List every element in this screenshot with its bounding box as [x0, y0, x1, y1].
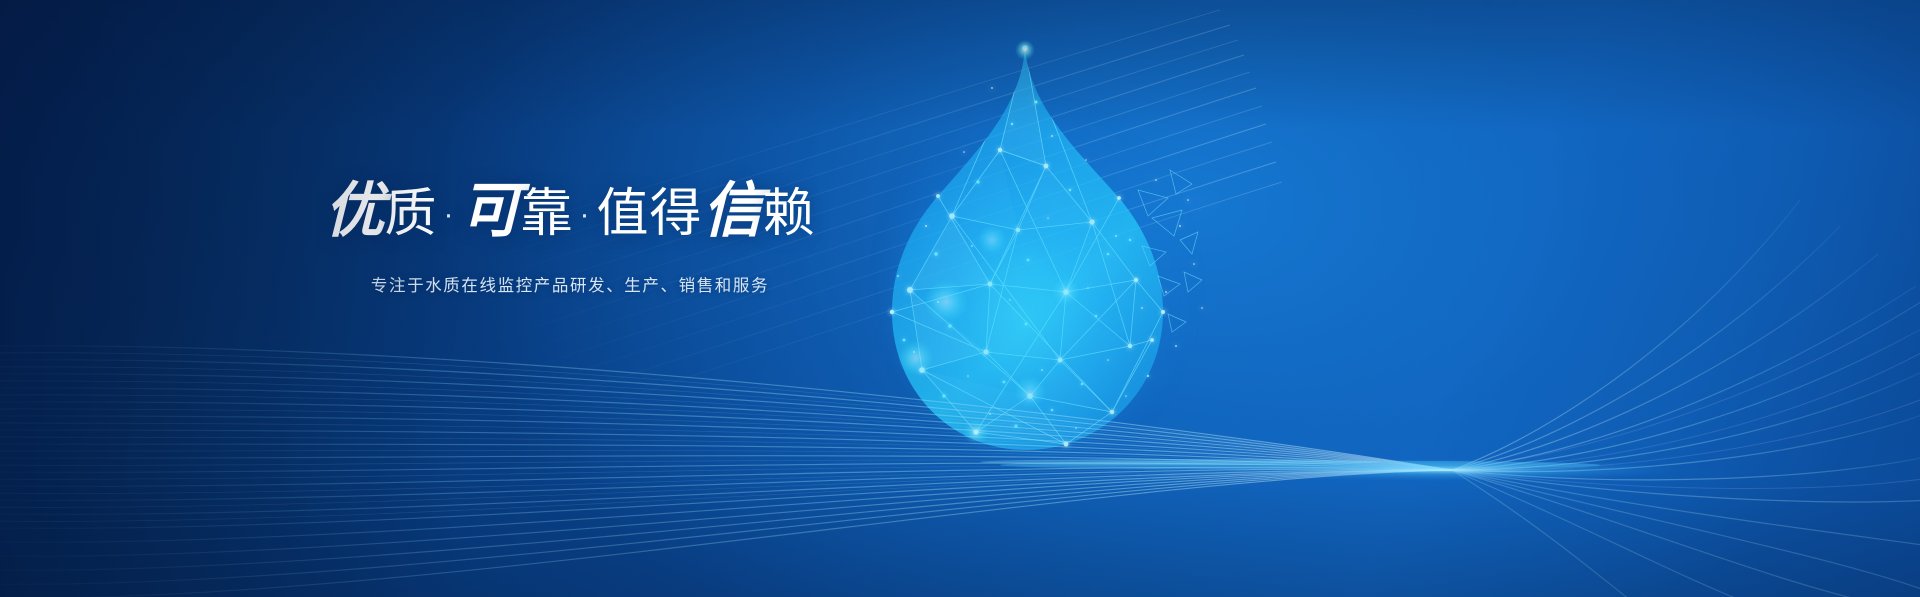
- droplet-mesh-edges: [892, 48, 1163, 444]
- headline-seg-4: 靠: [520, 184, 573, 244]
- light-ray-fan: [0, 0, 1920, 597]
- sweep-lines-right-accent: [1452, 300, 1920, 488]
- droplet-glow: [888, 110, 1188, 455]
- sweep-lines-right: [1452, 200, 1920, 597]
- headline-separator-1: ·: [437, 198, 460, 231]
- hero-banner: 优质·可靠·值得信赖 专注于水质在线监控产品研发、生产、销售和服务: [0, 0, 1920, 597]
- headline-seg-6: 值得: [597, 184, 703, 244]
- droplet-body: [892, 48, 1163, 450]
- water-droplet-graphic: [880, 40, 1210, 465]
- droplet-facets: [910, 48, 1136, 444]
- edge-vignette: [0, 0, 1920, 597]
- sweep-lines-left: [0, 346, 1452, 597]
- banner-copy: 优质·可靠·值得信赖 专注于水质在线监控产品研发、生产、销售和服务: [310, 178, 830, 298]
- droplet-wireframe-svg: [880, 40, 1210, 465]
- horizon-streak: [1000, 461, 1600, 470]
- headline-seg-8: 赖: [763, 184, 816, 244]
- bottom-sweep-lines: [0, 0, 1920, 597]
- droplet-hotspots: [898, 40, 1080, 445]
- headline-separator-2: ·: [574, 198, 597, 231]
- headline-seg-3: 可: [460, 176, 520, 246]
- headline-seg-0: 优: [324, 176, 384, 246]
- headline-seg-1: 质: [384, 184, 437, 244]
- page-title: 优质·可靠·值得信赖: [310, 178, 830, 248]
- sweep-lines-left-fine: [0, 353, 1452, 522]
- horizon-streak-inner: [980, 459, 1380, 465]
- droplet-nodes: [890, 45, 1203, 446]
- droplet-shards: [1138, 170, 1202, 332]
- headline-seg-7: 信: [703, 176, 763, 246]
- vanishing-point-glow: [1222, 459, 1682, 481]
- page-subtitle: 专注于水质在线监控产品研发、生产、销售和服务: [310, 274, 830, 298]
